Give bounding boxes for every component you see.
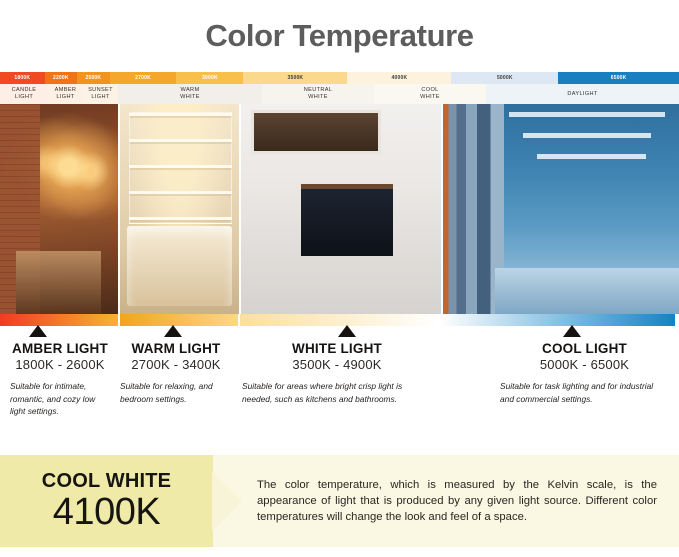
chevron-right-icon xyxy=(212,471,242,531)
gradient-bar-amber xyxy=(0,314,118,326)
kelvin-chip-3000k: 3000K xyxy=(176,72,243,84)
photo-white-living-dining xyxy=(239,104,440,314)
ceiling-light-beam-icon xyxy=(537,154,646,159)
kelvin-name-neutral: NEUTRALWHITE xyxy=(262,84,374,104)
kelvin-name-line1: SUNSET xyxy=(88,87,113,94)
photo-amber-cafe xyxy=(0,104,118,314)
legend-heading: AMBER LIGHT xyxy=(10,341,110,356)
legend-row: AMBER LIGHT 1800K - 2600K Suitable for i… xyxy=(0,326,679,422)
legend-description: Suitable for relaxing, and bedroom setti… xyxy=(120,380,232,405)
legend-item-amber: AMBER LIGHT 1800K - 2600K Suitable for i… xyxy=(0,341,120,422)
legend-description: Suitable for areas where bright crisp li… xyxy=(242,380,432,405)
kelvin-name-line1: DAYLIGHT xyxy=(567,91,597,98)
kelvin-chip-4000k: 4000K xyxy=(347,72,451,84)
legend-kelvin-range: 2700K - 3400K xyxy=(120,357,232,372)
kelvin-name-line2: LIGHT xyxy=(15,94,33,101)
kelvin-name-line2: WHITE xyxy=(420,94,440,101)
kelvin-chip-row: 1800K2200K2500K2700K3000K3500K4000K5000K… xyxy=(0,72,679,84)
kelvin-chip-5000k: 5000K xyxy=(451,72,558,84)
gradient-bar-cool xyxy=(440,314,675,326)
gradient-bar-white xyxy=(240,314,438,326)
floor-kerb xyxy=(499,284,594,291)
range-marker-triangle-icon xyxy=(563,325,581,337)
photo-cool-warehouse xyxy=(441,104,679,314)
legend-kelvin-range: 1800K - 2600K xyxy=(10,357,110,372)
ceiling-light-beam-icon xyxy=(523,133,651,138)
page-title: Color Temperature xyxy=(0,0,679,72)
legend-heading: WHITE LIGHT xyxy=(242,341,432,356)
kelvin-name-daylight: DAYLIGHT xyxy=(486,84,679,104)
kelvin-chip-2500k: 2500K xyxy=(77,72,110,84)
kelvin-name-line1: CANDLE xyxy=(12,87,37,94)
kelvin-name-line2: WHITE xyxy=(308,94,328,101)
kelvin-name-line1: WARM xyxy=(181,87,200,94)
kelvin-chip-1800k: 1800K xyxy=(0,72,45,84)
legend-item-cool: COOL LIGHT 5000K - 6500K Suitable for ta… xyxy=(442,341,679,422)
legend-item-warm: WARM LIGHT 2700K - 3400K Suitable for re… xyxy=(120,341,242,422)
range-marker-triangle-icon xyxy=(164,325,182,337)
kelvin-name-amber: AMBERLIGHT xyxy=(48,84,83,104)
photo-strip xyxy=(0,104,679,314)
legend-description: Suitable for intimate, romantic, and coz… xyxy=(10,380,110,418)
callout-kelvin: 4100K xyxy=(53,493,160,533)
kelvin-chip-3500k: 3500K xyxy=(243,72,347,84)
kelvin-name-cool: COOLWHITE xyxy=(374,84,486,104)
kelvin-name-candle: CANDLELIGHT xyxy=(0,84,48,104)
gradient-bar-warm xyxy=(120,314,238,326)
kelvin-name-line1: NEUTRAL xyxy=(304,87,333,94)
kelvin-name-line1: AMBER xyxy=(55,87,77,94)
kelvin-chip-2700k: 2700K xyxy=(110,72,177,84)
ceiling-light-beam-icon xyxy=(509,112,665,117)
kelvin-name-row: CANDLELIGHTAMBERLIGHTSUNSETLIGHTWARMWHIT… xyxy=(0,84,679,104)
callout-left: COOL WHITE 4100K xyxy=(0,455,213,547)
range-marker-triangle-icon xyxy=(338,325,356,337)
legend-kelvin-range: 3500K - 4900K xyxy=(242,357,432,372)
kelvin-name-line1: COOL xyxy=(421,87,438,94)
callout-paragraph: The color temperature, which is measured… xyxy=(257,477,657,525)
legend-item-white: WHITE LIGHT 3500K - 4900K Suitable for a… xyxy=(242,341,442,422)
kelvin-name-line2: WHITE xyxy=(180,94,200,101)
callout-label: COOL WHITE xyxy=(42,470,171,493)
legend-kelvin-range: 5000K - 6500K xyxy=(500,357,669,372)
legend-heading: COOL LIGHT xyxy=(500,341,669,356)
kelvin-chip-2200k: 2200K xyxy=(45,72,78,84)
legend-description: Suitable for task lighting and for indus… xyxy=(500,380,669,405)
legend-heading: WARM LIGHT xyxy=(120,341,232,356)
callout-right: The color temperature, which is measured… xyxy=(213,455,679,547)
photo-warm-living-room xyxy=(118,104,240,314)
kelvin-name-line2: LIGHT xyxy=(56,94,74,101)
kelvin-scale: 1800K2200K2500K2700K3000K3500K4000K5000K… xyxy=(0,72,679,104)
range-marker-triangle-icon xyxy=(29,325,47,337)
gradient-bar-row xyxy=(0,314,679,326)
kelvin-name-sunset: SUNSETLIGHT xyxy=(83,84,118,104)
callout-panel: COOL WHITE 4100K The color temperature, … xyxy=(0,455,679,547)
kelvin-name-line2: LIGHT xyxy=(91,94,109,101)
kelvin-chip-6500k: 6500K xyxy=(558,72,679,84)
kelvin-name-warm: WARMWHITE xyxy=(118,84,262,104)
